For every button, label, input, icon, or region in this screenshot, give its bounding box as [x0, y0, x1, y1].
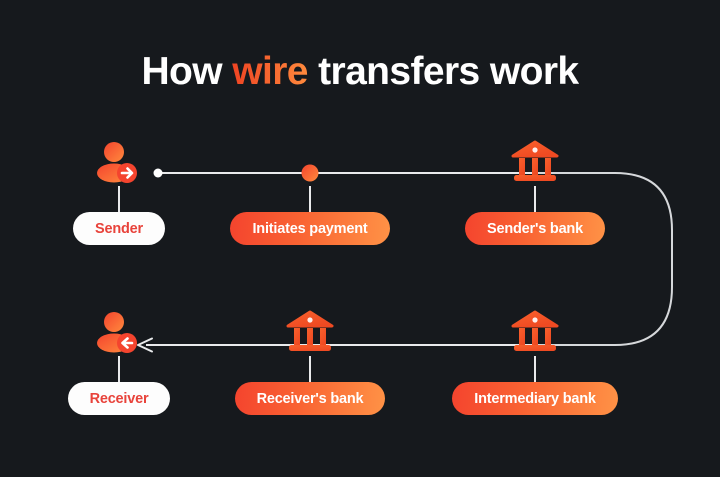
receiver-icon-wrap [91, 310, 147, 356]
senders-bank-stem [534, 186, 536, 212]
intermediary-bank-stem [534, 356, 536, 382]
dot-node-icon [297, 160, 323, 186]
intermediary-bank-icon-wrap [507, 310, 563, 356]
bank-icon [507, 310, 563, 356]
pill-initiates-payment[interactable]: Initiates payment [230, 212, 389, 245]
pill-receiver[interactable]: Receiver [68, 382, 171, 415]
pill-senders-bank[interactable]: Sender's bank [465, 212, 605, 245]
pill-receivers-bank[interactable]: Receiver's bank [235, 382, 386, 415]
node-senders-bank[interactable]: Sender's bank [440, 140, 630, 245]
node-intermediary-bank[interactable]: Intermediary bank [435, 310, 635, 415]
bank-icon [282, 310, 338, 356]
pill-sender[interactable]: Sender [73, 212, 165, 245]
pill-intermediary-bank[interactable]: Intermediary bank [452, 382, 618, 415]
person-arrow-left-icon [91, 310, 147, 356]
initiates-dot-wrap [282, 160, 338, 186]
node-receivers-bank[interactable]: Receiver's bank [215, 310, 405, 415]
node-receiver[interactable]: Receiver [62, 310, 176, 415]
title-highlight-wire: wire [232, 50, 308, 93]
person-arrow-right-icon [91, 140, 147, 186]
sender-icon-wrap [91, 140, 147, 186]
receivers-bank-icon-wrap [282, 310, 338, 356]
bank-icon [507, 140, 563, 186]
receivers-bank-stem [309, 356, 311, 382]
sender-stem [118, 186, 120, 212]
wire-transfer-infographic: How wire transfers work [0, 0, 720, 477]
receiver-stem [118, 356, 120, 382]
senders-bank-icon-wrap [507, 140, 563, 186]
page-title: How wire transfers work [0, 50, 720, 94]
title-part-before: How [141, 50, 232, 93]
node-initiates-payment[interactable]: Initiates payment [215, 160, 405, 245]
title-part-after: transfers work [308, 50, 579, 93]
initiates-stem [309, 186, 311, 212]
node-sender[interactable]: Sender [62, 140, 176, 245]
